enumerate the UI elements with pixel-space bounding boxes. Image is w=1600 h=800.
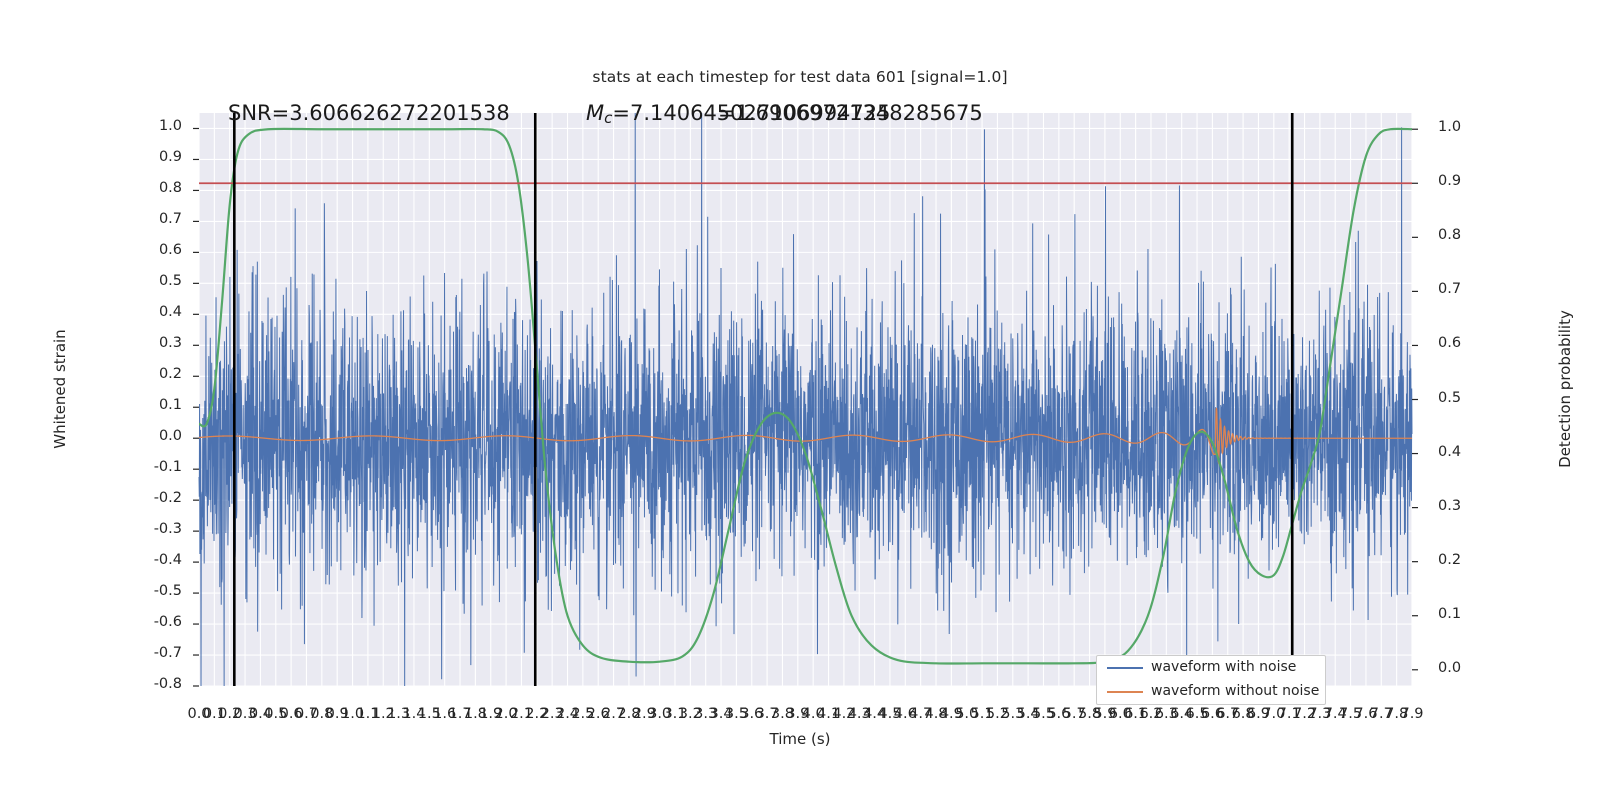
y-tick-label-left: -0.6 (62, 614, 182, 630)
y-tick-label-left: -0.5 (62, 583, 182, 599)
y-axis-label-right: Detection probability (1556, 239, 1574, 539)
legend-item-waveform-with-noise[interactable]: waveform with noise (1097, 656, 1325, 680)
y-tick-label-right: 0.4 (1438, 444, 1558, 460)
y-tick-label-right: 0.6 (1438, 335, 1558, 351)
chart-legend[interactable]: waveform with noise waveform without noi… (1096, 655, 1326, 705)
y-tick-label-left: 0.1 (62, 397, 182, 413)
y-tick-label-right: 0.3 (1438, 498, 1558, 514)
y-tick-label-right: 0.9 (1438, 173, 1558, 189)
y-tick-label-left: -0.4 (62, 552, 182, 568)
annotation-mc-overlap: =1.69069721348285675 (718, 101, 983, 125)
legend-swatch-waveform-without-noise (1107, 691, 1143, 693)
y-tick-label-right: 0.2 (1438, 552, 1558, 568)
y-tick-label-right: 0.5 (1438, 390, 1558, 406)
y-tick-label-left: 0.8 (62, 180, 182, 196)
y-tick-label-right: 0.0 (1438, 660, 1558, 676)
chart-figure: stats at each timestep for test data 601… (0, 0, 1600, 800)
legend-label-waveform-without-noise: waveform without noise (1151, 683, 1319, 699)
y-tick-label-left: 0.9 (62, 149, 182, 165)
y-tick-label-left: 0.5 (62, 273, 182, 289)
y-tick-label-left: 0.7 (62, 211, 182, 227)
y-tick-label-left: 1.0 (62, 118, 182, 134)
y-tick-label-left: 0.3 (62, 335, 182, 351)
y-tick-label-right: 1.0 (1438, 119, 1558, 135)
y-tick-label-left: 0.4 (62, 304, 182, 320)
x-tick-label: 7.9 (1382, 706, 1442, 722)
legend-label-waveform-with-noise: waveform with noise (1151, 659, 1296, 675)
y-tick-label-left: 0.2 (62, 366, 182, 382)
y-tick-label-right: 0.1 (1438, 606, 1558, 622)
y-tick-label-left: -0.7 (62, 645, 182, 661)
y-tick-label-left: -0.1 (62, 459, 182, 475)
y-tick-label-left: -0.3 (62, 521, 182, 537)
x-axis-label: Time (s) (0, 730, 1600, 748)
y-tick-label-left: -0.8 (62, 676, 182, 692)
y-tick-label-left: 0.0 (62, 428, 182, 444)
y-tick-label-right: 0.7 (1438, 281, 1558, 297)
legend-item-waveform-without-noise[interactable]: waveform without noise (1097, 680, 1325, 704)
y-tick-label-left: 0.6 (62, 242, 182, 258)
y-tick-label-right: 0.8 (1438, 227, 1558, 243)
y-tick-label-left: -0.2 (62, 490, 182, 506)
legend-swatch-waveform-with-noise (1107, 667, 1143, 669)
chart-title: stats at each timestep for test data 601… (0, 68, 1600, 86)
annotation-snr: SNR=3.606626272201538 (228, 101, 510, 125)
